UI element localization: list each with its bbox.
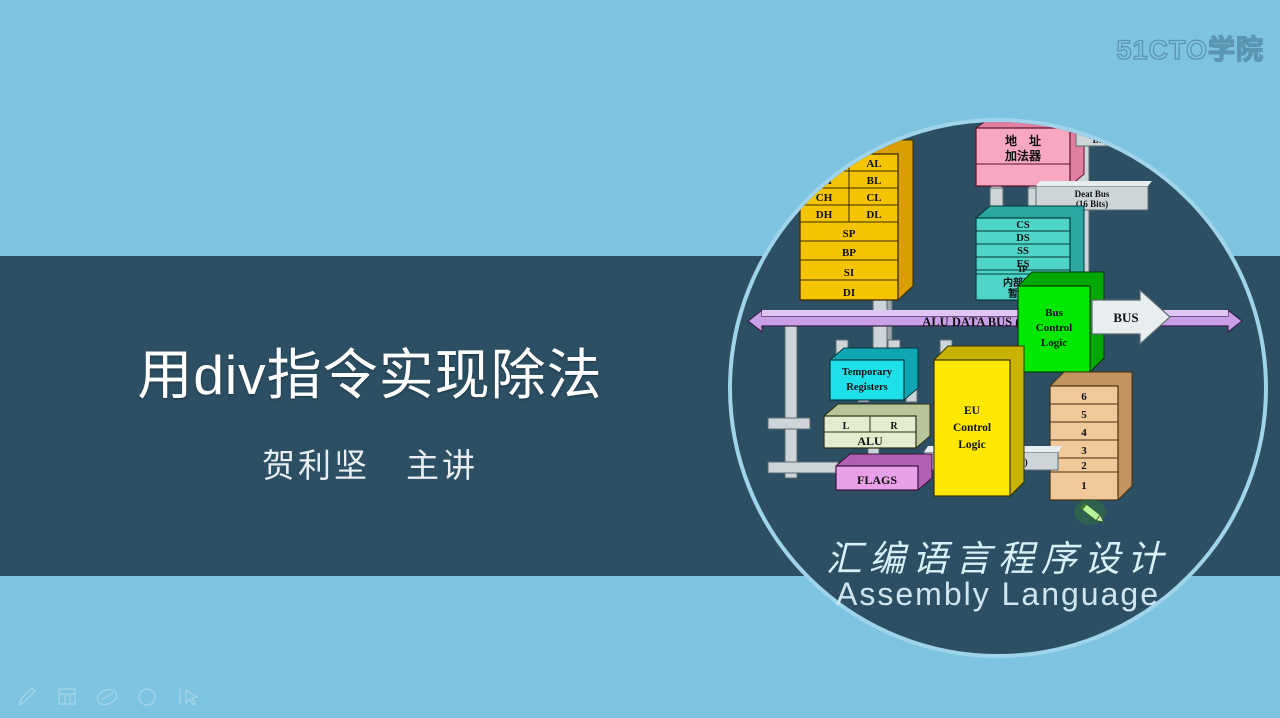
svg-text:DL: DL [866, 209, 881, 221]
annotation-toolbar[interactable] [14, 684, 200, 710]
svg-text:DS: DS [1016, 233, 1030, 244]
address-bus-label: Bus (20Bits) [1093, 135, 1140, 145]
svg-text:DH: DH [816, 209, 833, 221]
svg-text:IP: IP [1019, 264, 1029, 274]
temporary-registers-line1: Temporary [842, 367, 893, 378]
svg-text:EU: EU [964, 405, 981, 417]
svg-text:6: 6 [1081, 391, 1087, 403]
presenter-name: 贺利坚 主讲 [262, 439, 478, 487]
svg-text:1: 1 [1081, 480, 1087, 492]
svg-text:BH: BH [816, 175, 832, 187]
svg-text:CL: CL [866, 192, 881, 204]
slides-tool-icon[interactable] [54, 684, 80, 710]
svg-text:Bus: Bus [1045, 307, 1063, 319]
eraser-tool-icon[interactable] [94, 684, 120, 710]
alu-label: ALU [857, 434, 883, 448]
slide-canvas: 51CTO学院 用div指令实现除法 贺利坚 主讲 [0, 0, 1280, 718]
data-bus-label-line1: Deat Bus [1075, 189, 1110, 199]
shape-tool-icon[interactable] [134, 684, 160, 710]
address-adder-line1: 地 址 [1005, 133, 1041, 148]
svg-text:SP: SP [843, 228, 856, 240]
svg-text:3: 3 [1081, 445, 1087, 457]
svg-text:Control: Control [1036, 322, 1072, 334]
diagram-caption-en: Assembly Language [728, 576, 1268, 613]
pen-tool-icon[interactable] [14, 684, 40, 710]
svg-text:CS: CS [1016, 220, 1030, 231]
pointer-tool-icon[interactable] [174, 684, 200, 710]
alu-right-operand: R [890, 421, 898, 432]
svg-text:SS: SS [1017, 246, 1029, 257]
address-adder-block: 地 址 加法器 [976, 118, 1084, 186]
eu-control-logic-block: EU Control Logic [934, 346, 1024, 496]
watermark-51cto: 51CTO学院 [1116, 28, 1264, 67]
instruction-queue-block: 6 5 4 3 2 1 [1050, 372, 1132, 500]
svg-text:SI: SI [844, 267, 854, 279]
address-adder-line2: 加法器 [1004, 148, 1042, 163]
diagram-caption-cn: 汇编语言程序设计 [728, 530, 1268, 582]
temporary-registers-line2: Registers [846, 382, 887, 393]
svg-text:4: 4 [1081, 427, 1087, 439]
svg-text:CH: CH [816, 192, 833, 204]
alu-block: L R ALU [824, 404, 930, 448]
address-bus-label-block: Bus (20Bits) [1076, 127, 1160, 146]
svg-text:Logic: Logic [1041, 337, 1067, 349]
alu-left-operand: L [843, 421, 850, 432]
page-title: 用div指令实现除法 [137, 345, 602, 406]
svg-text:AL: AL [866, 158, 881, 170]
temporary-registers-block: Temporary Registers [830, 348, 918, 400]
svg-text:BL: BL [867, 175, 882, 187]
external-bus-label: BUS [1113, 310, 1138, 325]
general-registers-block: AHAL BHBL CHCL DHDL SP BP SI DI [800, 140, 913, 300]
svg-text:2: 2 [1081, 460, 1087, 472]
title-block: 用div指令实现除法 贺利坚 主讲 [0, 256, 740, 576]
flags-block: FLAGS [836, 454, 932, 490]
pencil-cursor [1074, 499, 1106, 525]
flags-label: FLAGS [857, 473, 897, 487]
svg-text:AH: AH [816, 158, 833, 170]
svg-text:DI: DI [843, 287, 855, 299]
svg-text:5: 5 [1081, 409, 1087, 421]
svg-text:BP: BP [842, 247, 856, 259]
alu-data-bus: ALU DATA BUS (16 BITS) [748, 310, 1242, 332]
svg-text:Logic: Logic [958, 439, 985, 451]
cpu-diagram-circle: ALU DATA BUS (16 BITS) [728, 118, 1268, 658]
bus-control-logic-block: Bus Control Logic [1018, 272, 1104, 372]
svg-text:Control: Control [953, 422, 991, 434]
